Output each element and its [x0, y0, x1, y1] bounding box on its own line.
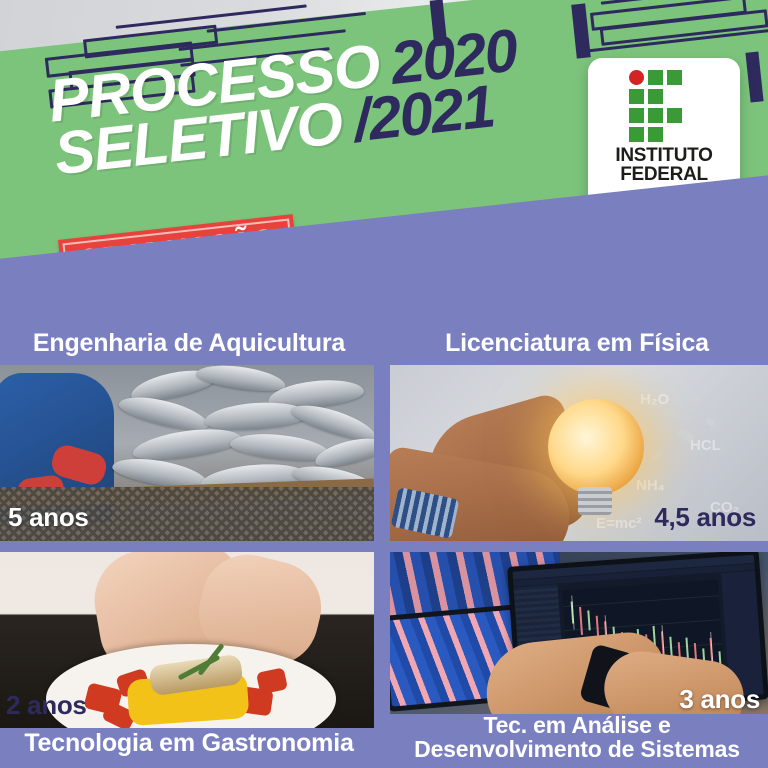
course-title-ads-line2: Desenvolvimento de Sistemas — [388, 738, 766, 762]
if-logo-icon — [629, 70, 699, 140]
duration-fisica: 4,5 anos — [654, 502, 756, 533]
course-title-gastronomia: Tecnologia em Gastronomia — [6, 730, 372, 756]
lightbulb-icon — [548, 399, 644, 495]
poster-root: PROCESSO 2020 SELETIVO /2021 GRADUAÇÃO — [0, 0, 768, 768]
lightbulb-base-icon — [578, 487, 612, 515]
duration-ads: 3 anos — [679, 684, 760, 715]
course-title-ads-line1: Tec. em Análise e — [388, 714, 766, 738]
course-title-ads: Tec. em Análise e Desenvolvimento de Sis… — [388, 714, 766, 762]
logo-text-federal: FEDERAL — [620, 165, 708, 184]
course-title-fisica: Licenciatura em Física — [392, 330, 762, 356]
duration-gastronomia: 2 anos — [6, 690, 87, 721]
duration-aquicultura: 5 anos — [8, 502, 89, 533]
headline-year-2021: /2021 — [351, 78, 496, 148]
logo-text-instituto: INSTITUTO — [615, 146, 712, 165]
course-title-aquicultura: Engenharia de Aquicultura — [6, 330, 372, 356]
poster-header: PROCESSO 2020 SELETIVO /2021 GRADUAÇÃO — [0, 0, 768, 330]
